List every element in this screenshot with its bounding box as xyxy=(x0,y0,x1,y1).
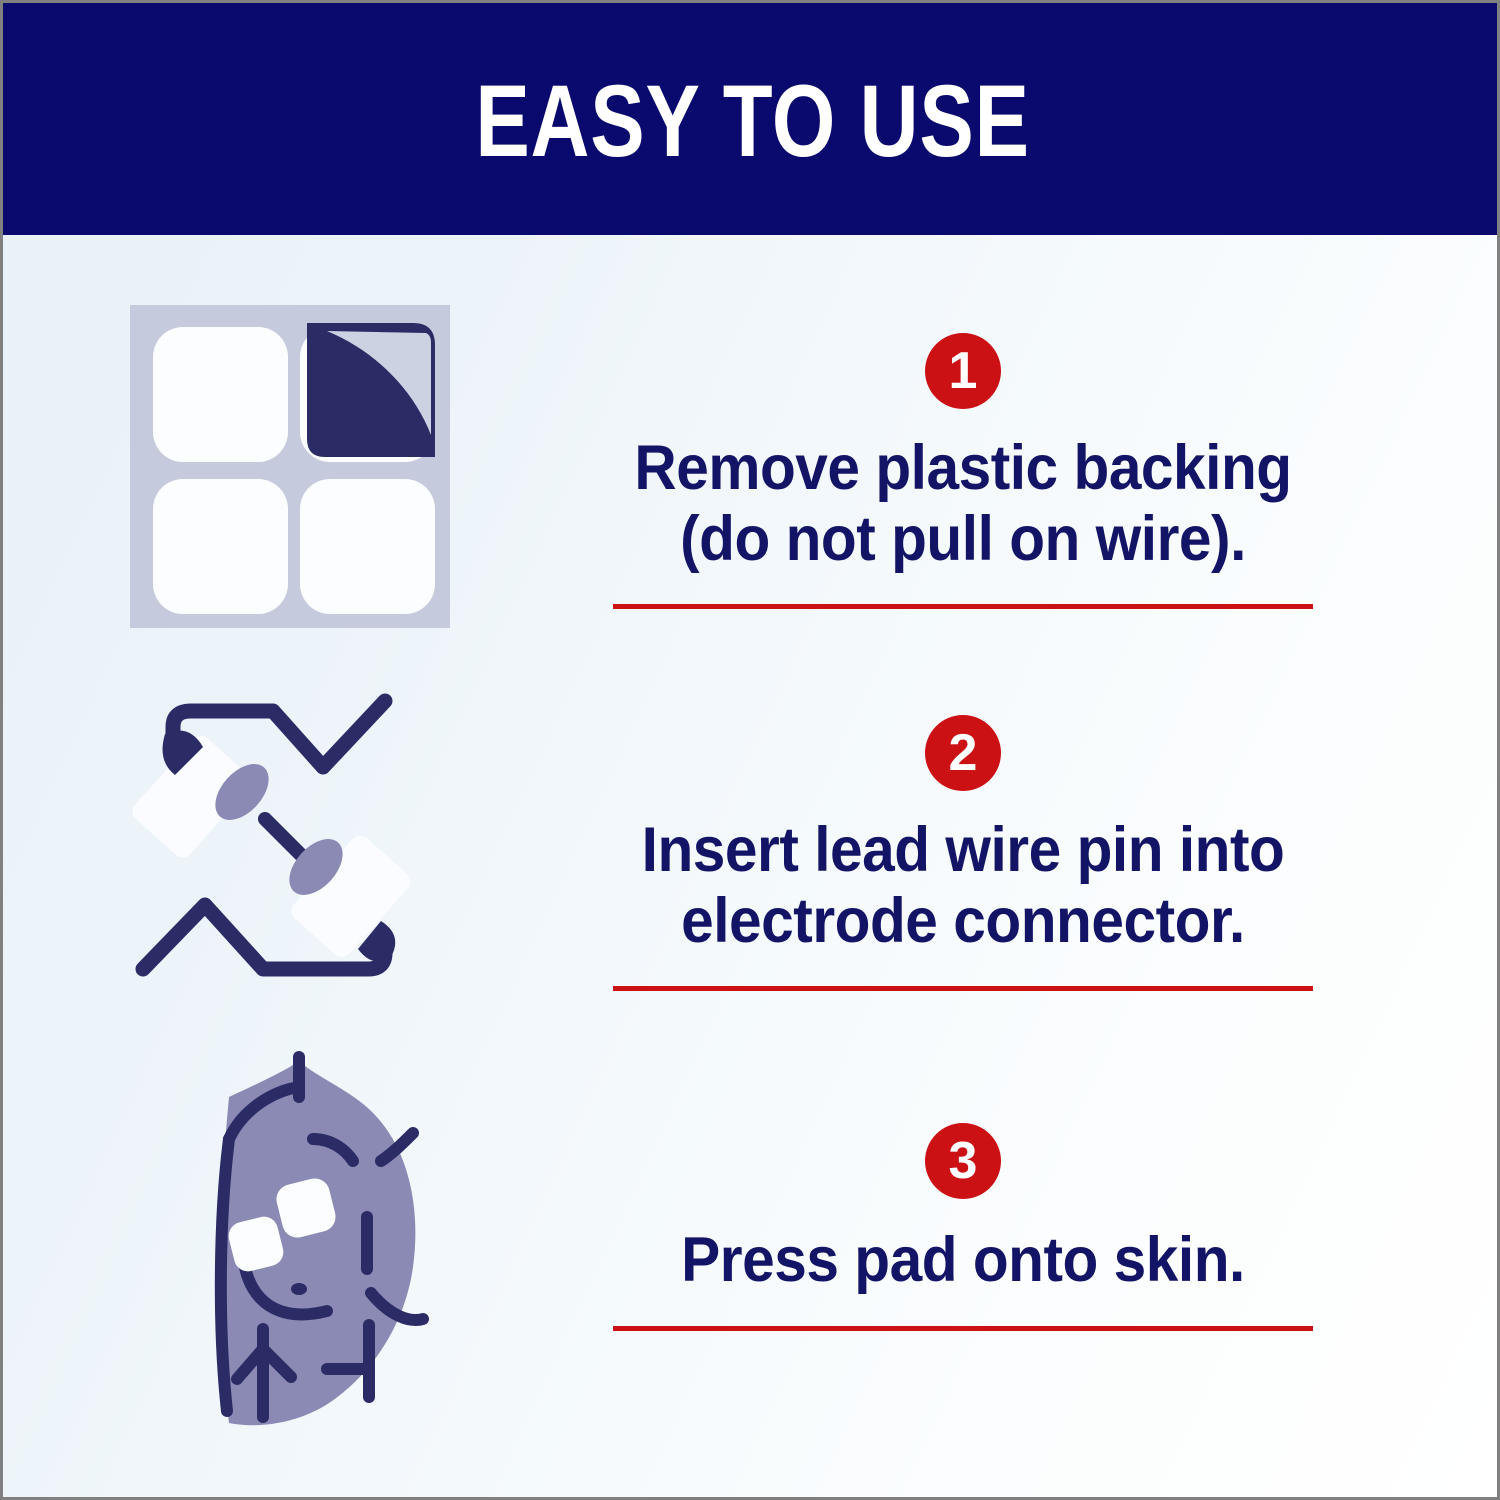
step-2-number-badge: 2 xyxy=(925,715,1001,791)
torso-with-pads-icon xyxy=(113,1039,493,1439)
step-row-2: 2 Insert lead wire pin into electrode co… xyxy=(3,639,1500,1039)
step-1-icon-cell xyxy=(113,239,493,639)
infographic-page: EASY TO USE 1 Remove xyxy=(0,0,1500,1500)
step-1-number-badge: 1 xyxy=(925,333,1001,409)
step-row-1: 1 Remove plastic backing (do not pull on… xyxy=(3,239,1500,639)
page-title: EASY TO USE xyxy=(476,70,1031,172)
electrode-pad-sheet-icon xyxy=(113,239,493,639)
step-3-text-cell: 3 Press pad onto skin. xyxy=(563,1039,1363,1439)
step-3-divider xyxy=(613,1326,1313,1331)
step-2-text-cell: 2 Insert lead wire pin into electrode co… xyxy=(563,639,1363,1039)
step-2-icon-cell xyxy=(113,639,493,1039)
step-3-instruction: Press pad onto skin. xyxy=(591,1225,1335,1296)
step-1-instruction: Remove plastic backing (do not pull on w… xyxy=(591,433,1335,574)
step-3-number-badge: 3 xyxy=(925,1123,1001,1199)
navel-dot xyxy=(291,1283,307,1295)
step-3-icon-cell xyxy=(113,1039,493,1439)
step-row-3: 3 Press pad onto skin. xyxy=(3,1039,1500,1439)
electrode-pad-bottom-right xyxy=(300,479,435,614)
header-banner: EASY TO USE xyxy=(3,3,1500,235)
step-1-text-cell: 1 Remove plastic backing (do not pull on… xyxy=(563,239,1363,639)
electrode-pad-bottom-left xyxy=(153,479,288,614)
lead-wire-connector-icon xyxy=(113,639,493,1039)
electrode-pad-top-left xyxy=(153,327,288,462)
step-2-instruction: Insert lead wire pin into electrode conn… xyxy=(591,815,1335,956)
step-2-divider xyxy=(613,986,1313,991)
step-1-divider xyxy=(613,604,1313,609)
